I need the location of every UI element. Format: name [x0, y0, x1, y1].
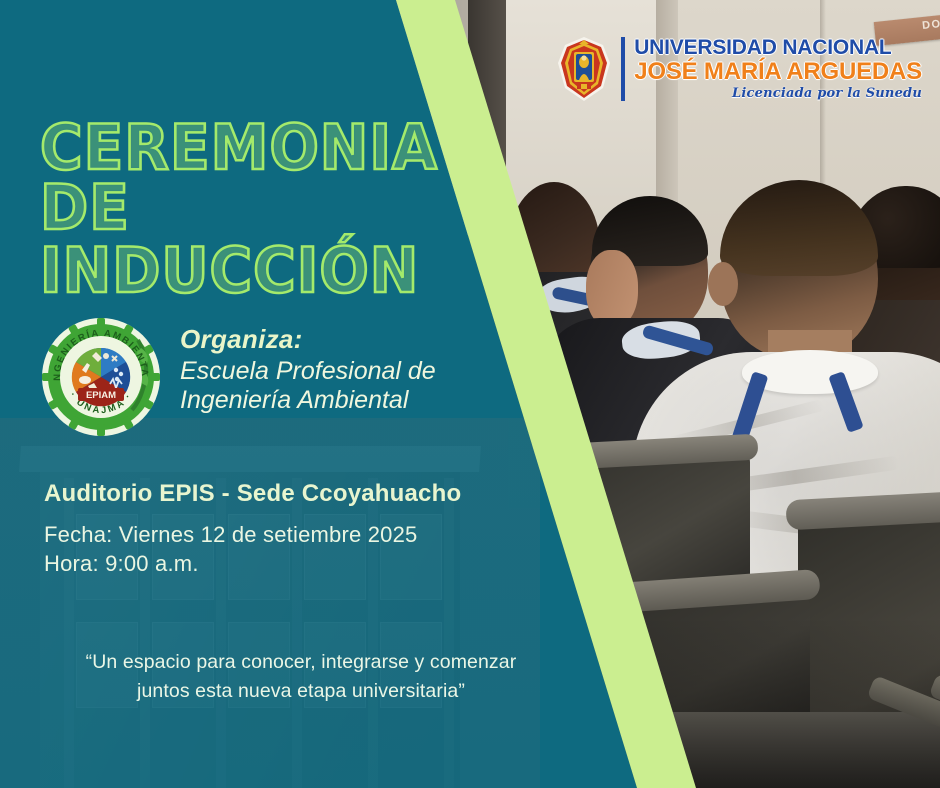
- university-line-2: JOSÉ MARÍA ARGUEDAS: [634, 59, 922, 84]
- venue-date: Fecha: Viernes 12 de setiembre 2025: [44, 522, 461, 548]
- organizer-block: INGENIERÍA AMBIENTAL · UNAJMA ·: [42, 318, 436, 436]
- venue-block: Auditorio EPIS - Sede Ccoyahuacho Fecha:…: [44, 480, 461, 580]
- quote-block: “Un espacio para conocer, integrarse y c…: [46, 648, 556, 707]
- quote-line-1: “Un espacio para conocer, integrarse y c…: [46, 648, 556, 677]
- title-line-1: CEREMONIA DE: [40, 118, 477, 237]
- organizer-name-line-2: Ingeniería Ambiental: [180, 386, 436, 415]
- person-2-face: [586, 250, 638, 328]
- university-licensing-note: Licenciada por la Sunedu: [732, 86, 922, 101]
- epiam-banner-text: EPIAM: [86, 390, 116, 401]
- university-logo-block: UNIVERSIDAD NACIONAL JOSÉ MARÍA ARGUEDAS…: [557, 36, 922, 102]
- unajma-crest-icon: [557, 36, 611, 102]
- page-title: CEREMONIA DE INDUCCIÓN: [40, 118, 460, 305]
- person-3-ear: [708, 262, 738, 306]
- university-line-1: UNIVERSIDAD NACIONAL: [634, 37, 891, 59]
- do-stuff-sign-label: DO STUFF: [922, 13, 940, 32]
- organizer-name-line-1: Escuela Profesional de: [180, 357, 436, 386]
- organizer-label: Organiza:: [180, 324, 436, 355]
- epiam-logo-icon: INGENIERÍA AMBIENTAL · UNAJMA ·: [42, 318, 160, 436]
- venue-place: Auditorio EPIS - Sede Ccoyahuacho: [44, 480, 461, 508]
- venue-time: Hora: 9:00 a.m.: [44, 551, 461, 577]
- quote-line-2: juntos esta nueva etapa universitaria”: [46, 677, 556, 706]
- poster-canvas: DO STUFF: [0, 0, 940, 788]
- title-line-2: INDUCCIÓN: [40, 241, 477, 301]
